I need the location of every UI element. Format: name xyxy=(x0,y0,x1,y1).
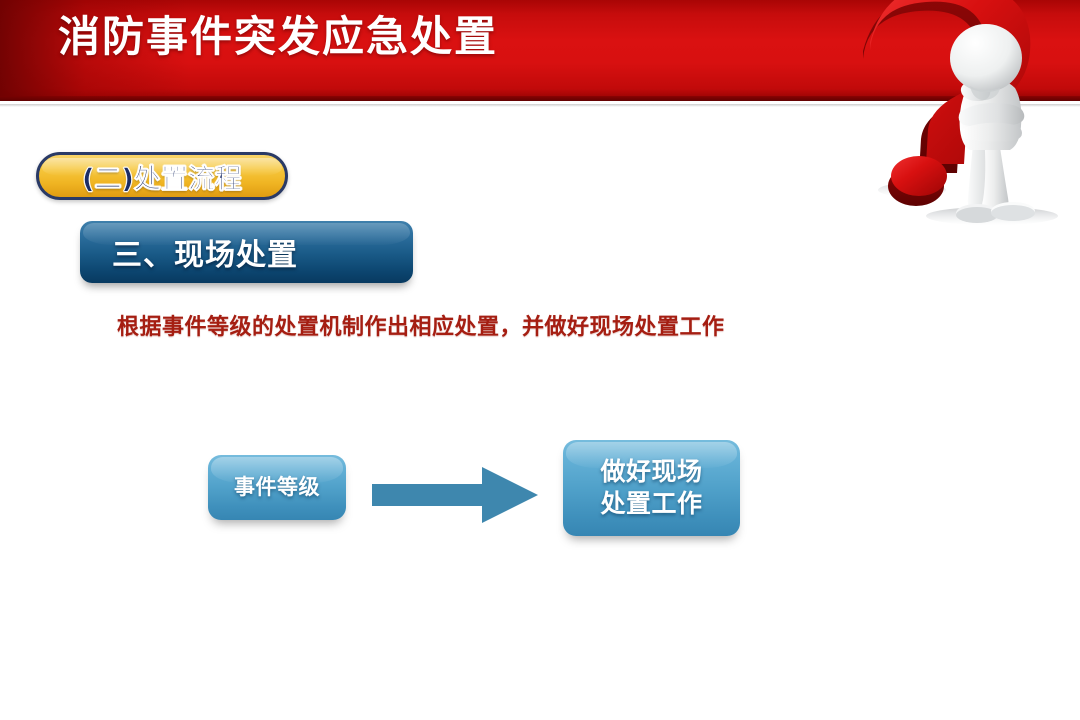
flow-node-label-line1: 做好现场 xyxy=(600,457,702,486)
flow-diagram: 事件等级 做好现场 处置工作 xyxy=(0,0,1080,720)
flow-node-label: 做好现场 处置工作 xyxy=(600,456,702,520)
page-title: 消防事件突发应急处置 xyxy=(58,16,498,58)
section-heading-label: 三、现场处置 xyxy=(112,230,298,274)
flow-node-label: 事件等级 xyxy=(234,474,320,501)
banner-underline-divider xyxy=(0,104,1080,107)
right-arrow-icon xyxy=(372,467,538,523)
title-banner: 消防事件突发应急处置 xyxy=(0,0,1080,101)
flow-node-label-line2: 处置工作 xyxy=(600,489,702,518)
section-number-pill[interactable]: (二)处置流程 xyxy=(36,152,288,200)
flow-node-onsite-work[interactable]: 做好现场 处置工作 xyxy=(563,440,740,536)
flow-node-event-level[interactable]: 事件等级 xyxy=(208,455,346,520)
section-body-text: 根据事件等级的处置机制作出相应处置，并做好现场处置工作 xyxy=(117,309,725,341)
slide-canvas: 消防事件突发应急处置 xyxy=(0,0,1080,720)
section-heading-banner[interactable]: 三、现场处置 xyxy=(80,221,413,283)
section-number-label: (二)处置流程 xyxy=(82,157,242,196)
